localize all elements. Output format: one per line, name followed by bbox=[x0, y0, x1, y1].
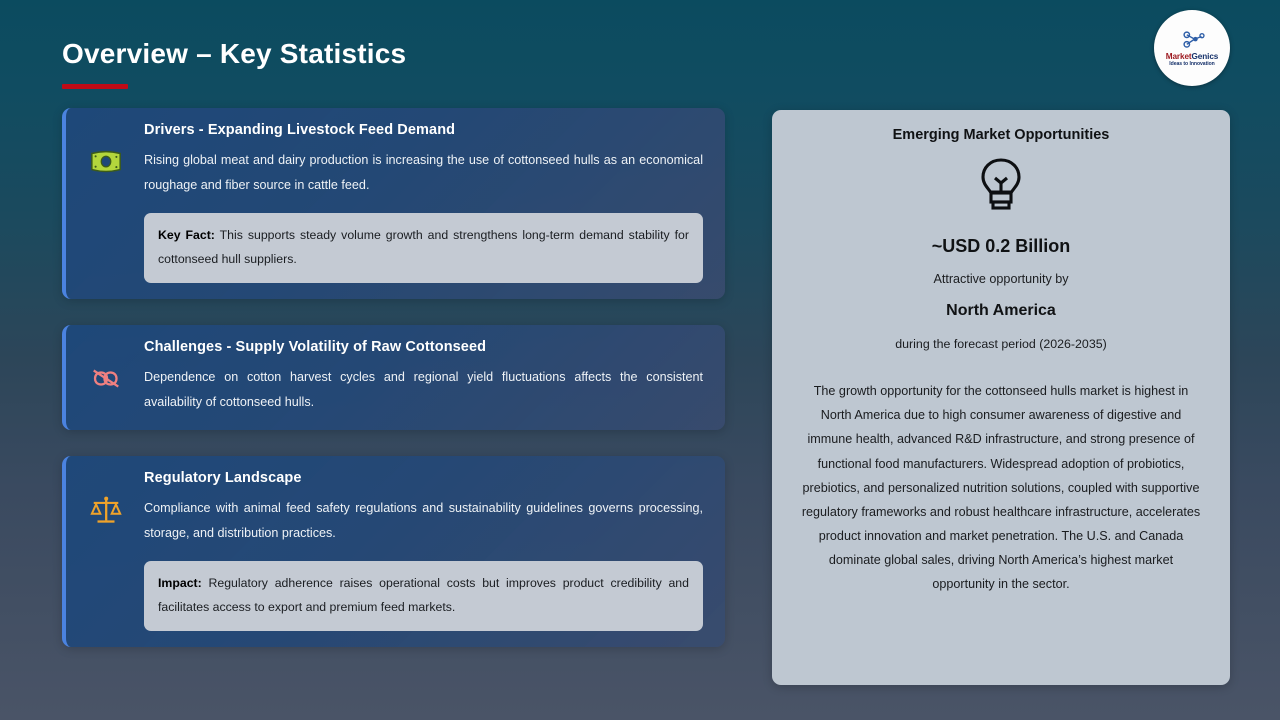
key-fact-text: This supports steady volume growth and s… bbox=[158, 228, 689, 266]
card-drivers[interactable]: Drivers - Expanding Livestock Feed Deman… bbox=[62, 108, 725, 299]
logo-tagline: Ideas to Innovation bbox=[1169, 62, 1214, 67]
insight-cards-column: Drivers - Expanding Livestock Feed Deman… bbox=[62, 108, 725, 673]
opportunity-region: North America bbox=[800, 302, 1202, 320]
forecast-period: during the forecast period (2026-2035) bbox=[800, 337, 1202, 351]
card-challenges[interactable]: Challenges - Supply Volatility of Raw Co… bbox=[62, 325, 725, 430]
company-logo: MarketGenics Ideas to Innovation bbox=[1154, 10, 1230, 86]
broken-link-icon bbox=[88, 361, 124, 397]
opportunity-description: The growth opportunity for the cottonsee… bbox=[800, 379, 1202, 597]
title-accent-rule bbox=[62, 84, 128, 89]
opportunity-value: ~USD 0.2 Billion bbox=[800, 236, 1202, 257]
lightbulb-icon bbox=[974, 157, 1028, 215]
network-nodes-icon bbox=[1179, 29, 1205, 51]
page-title: Overview – Key Statistics bbox=[62, 38, 406, 70]
card-body: Dependence on cotton harvest cycles and … bbox=[144, 365, 703, 414]
money-banknote-icon bbox=[88, 144, 124, 180]
card-title: Regulatory Landscape bbox=[144, 470, 703, 486]
balance-scales-icon bbox=[88, 492, 124, 528]
card-regulatory[interactable]: Regulatory Landscape Compliance with ani… bbox=[62, 456, 725, 647]
card-title: Challenges - Supply Volatility of Raw Co… bbox=[144, 339, 703, 355]
impact-box: Impact: Regulatory adherence raises oper… bbox=[144, 561, 703, 631]
logo-wordmark: MarketGenics bbox=[1166, 53, 1219, 61]
emerging-opportunities-panel: Emerging Market Opportunities ~USD 0.2 B… bbox=[772, 110, 1230, 685]
panel-title: Emerging Market Opportunities bbox=[800, 127, 1202, 143]
key-fact-label: Key Fact: bbox=[158, 228, 215, 242]
card-body: Compliance with animal feed safety regul… bbox=[144, 496, 703, 545]
key-fact-box: Key Fact: This supports steady volume gr… bbox=[144, 213, 703, 283]
card-title: Drivers - Expanding Livestock Feed Deman… bbox=[144, 122, 703, 138]
impact-label: Impact: bbox=[158, 576, 202, 590]
card-body: Rising global meat and dairy production … bbox=[144, 148, 703, 197]
impact-text: Regulatory adherence raises operational … bbox=[158, 576, 689, 614]
opportunity-subtitle: Attractive opportunity by bbox=[800, 272, 1202, 286]
